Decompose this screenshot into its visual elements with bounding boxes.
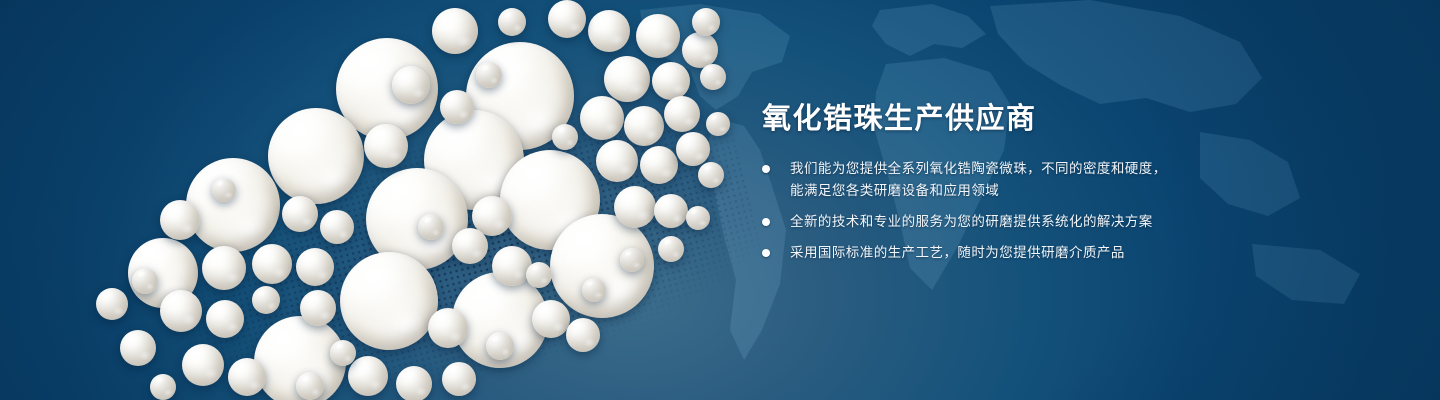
- bead-medium: [252, 244, 292, 284]
- list-item: 采用国际标准的生产工艺，随时为您提供研磨介质产品: [762, 242, 1322, 264]
- banner-copy: 氧化锆珠生产供应商 我们能为您提供全系列氧化锆陶瓷微珠，不同的密度和硬度， 能满…: [762, 104, 1322, 264]
- bead-medium: [296, 248, 334, 286]
- bead-small: [700, 64, 726, 90]
- bead-medium: [566, 318, 600, 352]
- bead-medium: [364, 124, 408, 168]
- bead-medium: [580, 96, 624, 140]
- bead-small: [132, 268, 158, 294]
- bead-small: [498, 8, 526, 36]
- bead-small: [686, 206, 710, 230]
- bead-small: [526, 262, 552, 288]
- bead-small: [706, 112, 730, 136]
- bead-medium: [654, 194, 688, 228]
- bead-small: [486, 332, 514, 360]
- bead-small: [658, 236, 684, 262]
- bead-medium: [348, 356, 388, 396]
- bead-small: [698, 162, 724, 188]
- feature-list: 我们能为您提供全系列氧化锆陶瓷微珠，不同的密度和硬度， 能满足您各类研磨设备和应…: [762, 158, 1322, 264]
- bead-medium: [664, 96, 700, 132]
- list-item-line-1: 全新的技术和专业的服务为您的研磨提供系统化的解决方案: [790, 214, 1153, 229]
- list-item-line-2: 能满足您各类研磨设备和应用领域: [790, 180, 1322, 202]
- bead-medium: [206, 300, 244, 338]
- bead-small: [692, 8, 720, 36]
- bead-medium: [588, 10, 630, 52]
- bead-small: [552, 124, 578, 150]
- bead-medium: [614, 186, 656, 228]
- hero-banner: 氧化锆珠生产供应商 我们能为您提供全系列氧化锆陶瓷微珠，不同的密度和硬度， 能满…: [0, 0, 1440, 400]
- bead-medium: [442, 362, 476, 396]
- bead-large: [268, 108, 364, 204]
- bead-large: [186, 158, 280, 252]
- bead-small: [252, 286, 280, 314]
- bead-small: [476, 62, 502, 88]
- bead-medium: [548, 0, 586, 38]
- bead-medium: [624, 106, 664, 146]
- bead-medium: [604, 56, 650, 102]
- bead-medium: [96, 288, 128, 320]
- bead-medium: [636, 14, 680, 58]
- bead-small: [418, 214, 444, 240]
- list-item: 全新的技术和专业的服务为您的研磨提供系统化的解决方案: [762, 211, 1322, 233]
- bead-medium: [676, 132, 710, 166]
- bead-small: [620, 248, 644, 272]
- bead-small: [212, 178, 236, 202]
- zirconia-beads-image: [0, 0, 760, 400]
- bead-small: [330, 340, 356, 366]
- list-item-line-1: 采用国际标准的生产工艺，随时为您提供研磨介质产品: [790, 245, 1125, 260]
- bead-medium: [320, 210, 354, 244]
- bead-medium: [300, 290, 336, 326]
- bead-medium: [282, 196, 318, 232]
- page-title: 氧化锆珠生产供应商: [762, 104, 1322, 136]
- bead-large: [340, 252, 438, 350]
- bead-medium: [652, 62, 690, 100]
- bead-medium: [596, 140, 638, 182]
- bead-medium: [396, 366, 432, 400]
- bead-medium: [228, 358, 266, 396]
- list-item-line-1: 我们能为您提供全系列氧化锆陶瓷微珠，不同的密度和硬度，: [790, 161, 1167, 176]
- bead-medium: [532, 300, 570, 338]
- bullet-dot-icon: [762, 249, 770, 257]
- bead-medium: [640, 146, 678, 184]
- bead-small: [296, 372, 324, 400]
- bead-medium: [160, 200, 200, 240]
- bead-medium: [120, 330, 156, 366]
- bead-medium: [182, 344, 224, 386]
- bead-medium: [428, 308, 468, 348]
- bead-small: [582, 278, 606, 302]
- bead-medium: [432, 8, 478, 54]
- bead-small: [150, 374, 176, 400]
- bullet-dot-icon: [762, 165, 770, 173]
- bead-medium: [202, 246, 246, 290]
- bead-medium: [160, 290, 202, 332]
- bead-medium: [452, 228, 488, 264]
- bullet-dot-icon: [762, 218, 770, 226]
- list-item: 我们能为您提供全系列氧化锆陶瓷微珠，不同的密度和硬度， 能满足您各类研磨设备和应…: [762, 158, 1322, 202]
- bead-medium: [392, 66, 430, 104]
- bead-medium: [682, 32, 718, 68]
- bead-medium: [440, 90, 474, 124]
